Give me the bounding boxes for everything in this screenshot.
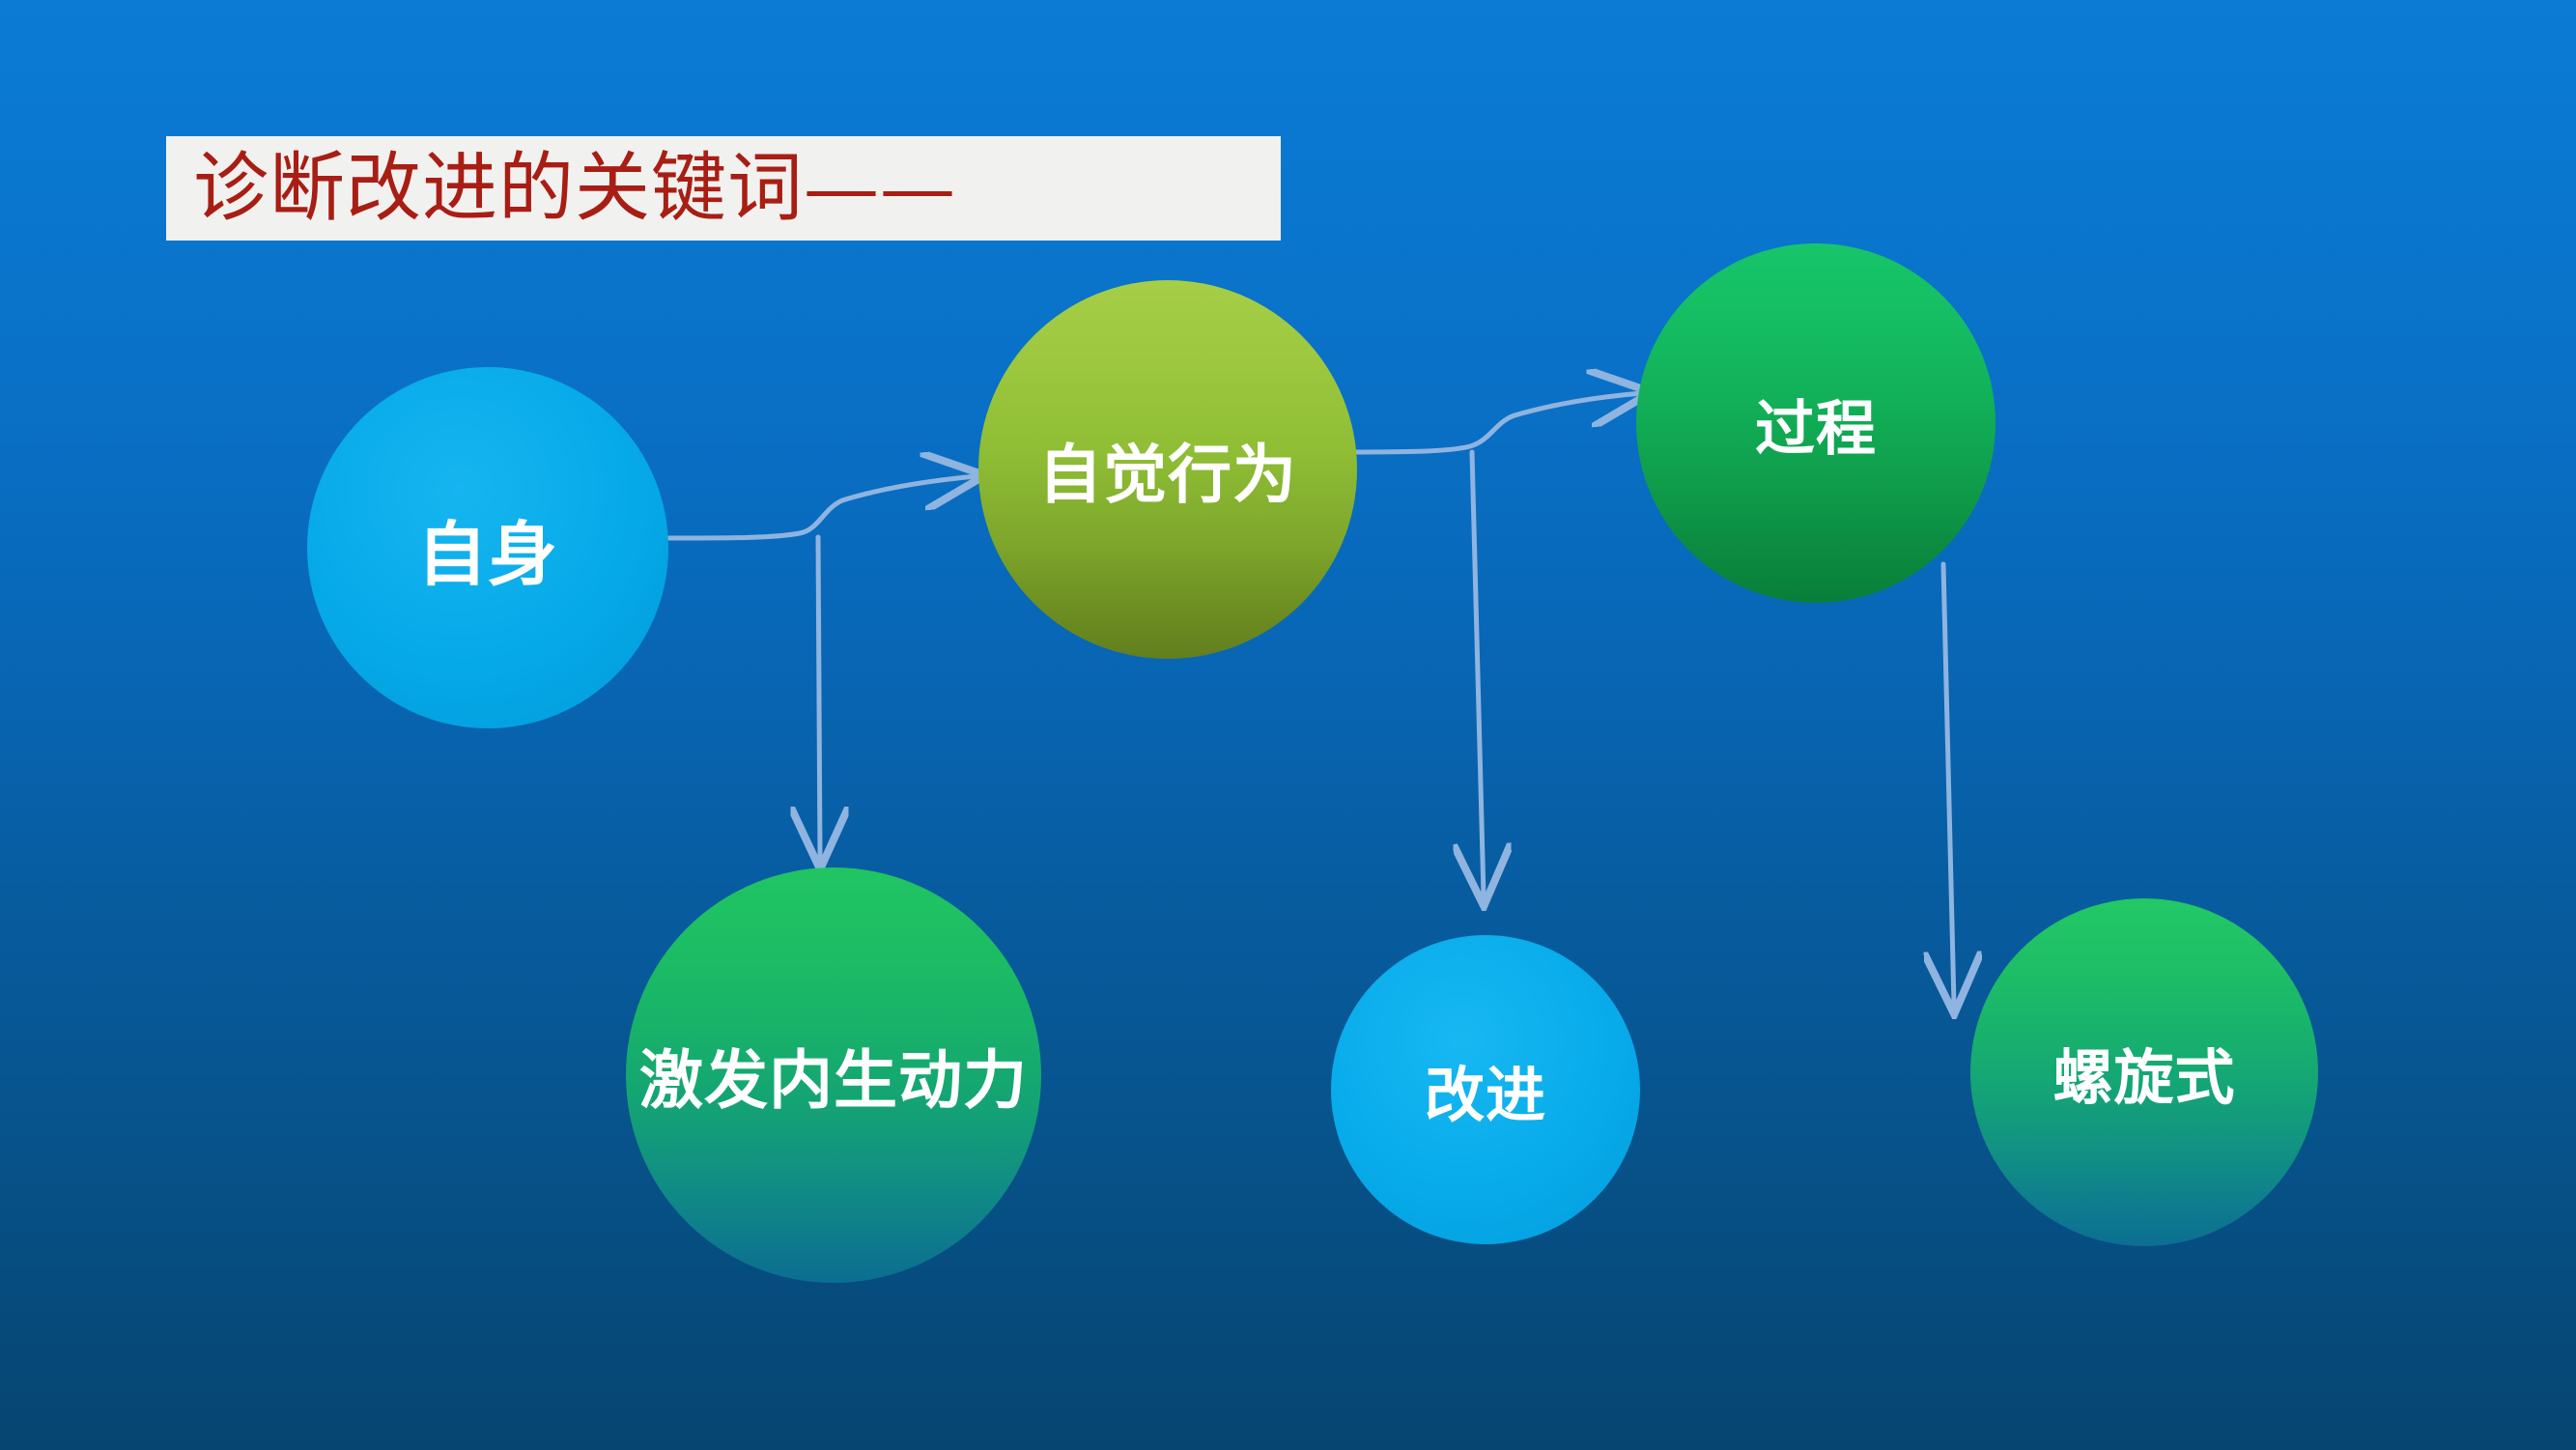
node-process-label: 过程 (1755, 380, 1877, 467)
slide-canvas: 诊断改进的关键词—— 自身 自觉行为 过程 激发内生动力 (0, 0, 2576, 1450)
connector-process-to-spiral (1943, 564, 1954, 1005)
node-improve-label: 改进 (1425, 1046, 1546, 1133)
node-spiral[interactable]: 螺旋式 (1970, 898, 2318, 1246)
node-process[interactable]: 过程 (1636, 243, 1996, 603)
connector-behavior-to-process (1336, 393, 1642, 452)
connector-behavior-to-improve (1472, 452, 1484, 896)
connector-self-to-behavior (669, 476, 976, 538)
node-self[interactable]: 自身 (307, 367, 668, 728)
node-self-label: 自身 (417, 498, 558, 599)
node-motivation-label: 激发内生动力 (639, 1029, 1028, 1122)
page-title: 诊断改进的关键词—— (193, 138, 1275, 239)
node-improve[interactable]: 改进 (1331, 935, 1640, 1244)
node-behavior-label: 自觉行为 (1038, 423, 1297, 516)
node-motivation[interactable]: 激发内生动力 (626, 867, 1041, 1283)
connector-self-to-motivation (818, 537, 820, 860)
node-spiral-label: 螺旋式 (2052, 1029, 2235, 1116)
node-behavior[interactable]: 自觉行为 (978, 280, 1357, 659)
